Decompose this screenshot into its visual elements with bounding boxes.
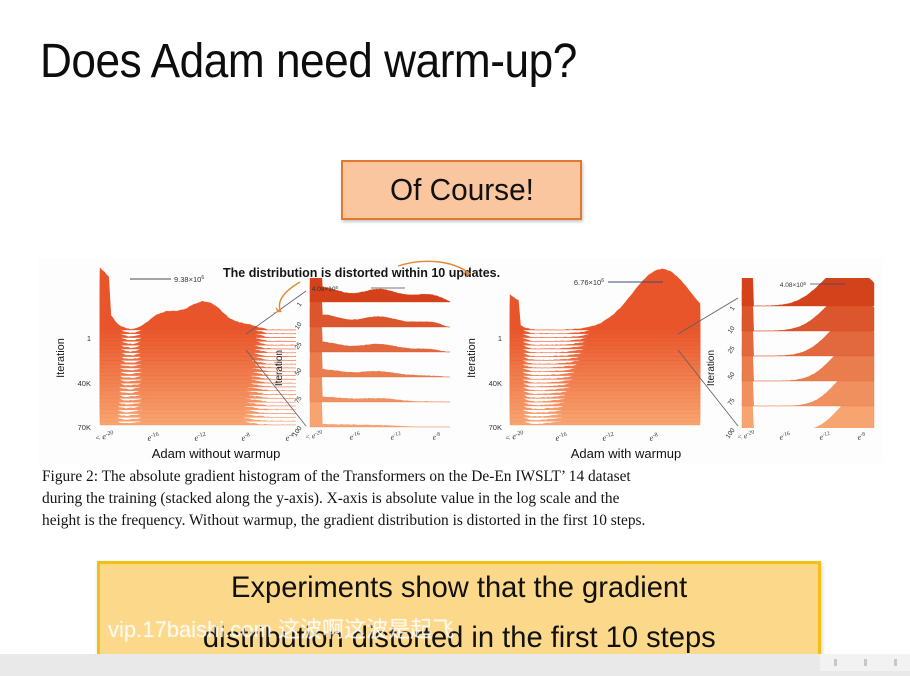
y-tick-left-1: 1 bbox=[87, 334, 91, 343]
x-axis-title-right: Adam with warmup bbox=[571, 446, 682, 461]
takeaway-callout: Experiments show that the gradient distr… bbox=[97, 561, 821, 665]
y-tick-left-40k: 40K bbox=[78, 379, 91, 388]
peak-label-left-inset: 4.08×106 bbox=[312, 285, 339, 294]
y-tick-right-1: 1 bbox=[498, 334, 502, 343]
of-course-label: Of Course! bbox=[390, 172, 534, 208]
x-axis-title-left: Adam without warmup bbox=[152, 446, 281, 461]
y-axis-label-right-inset: Iteration bbox=[706, 350, 717, 386]
caption-line-3: height is the frequency. Without warmup,… bbox=[42, 510, 874, 532]
figure-2-image: 9.38×106 Iteration 1 40K 70K < e-20 e-16… bbox=[38, 258, 883, 463]
peak-label-left-main: 9.38×106 bbox=[174, 275, 204, 284]
y-tick-right-70k: 70K bbox=[489, 423, 502, 432]
peak-label-right-main: 6.76×106 bbox=[574, 278, 604, 287]
y-tick-right-40k: 40K bbox=[489, 379, 502, 388]
takeaway-line-1: Experiments show that the gradient bbox=[231, 563, 687, 613]
peak-label-right-inset: 4.08×106 bbox=[780, 281, 807, 290]
caption-line-2: during the training (stacked along the y… bbox=[42, 488, 874, 510]
y-axis-label-left-main: Iteration bbox=[55, 338, 67, 378]
of-course-callout: Of Course! bbox=[341, 160, 582, 220]
player-control-dot[interactable] bbox=[864, 659, 867, 666]
player-control-dot[interactable] bbox=[834, 659, 837, 666]
distortion-annotation: The distribution is distorted within 10 … bbox=[223, 266, 500, 280]
player-control-dot[interactable] bbox=[894, 659, 897, 666]
y-axis-label-right-main: Iteration bbox=[466, 338, 478, 378]
video-player-controls[interactable] bbox=[820, 654, 910, 671]
y-axis-label-left-inset: Iteration bbox=[274, 350, 285, 386]
caption-line-1: Figure 2: The absolute gradient histogra… bbox=[42, 466, 874, 488]
figure-caption: Figure 2: The absolute gradient histogra… bbox=[42, 466, 874, 532]
y-tick-left-70k: 70K bbox=[78, 423, 91, 432]
slide-canvas: Does Adam need warm-up? Of Course! bbox=[0, 0, 910, 676]
page-title: Does Adam need warm-up? bbox=[40, 34, 577, 89]
video-player-bar[interactable] bbox=[0, 654, 910, 676]
